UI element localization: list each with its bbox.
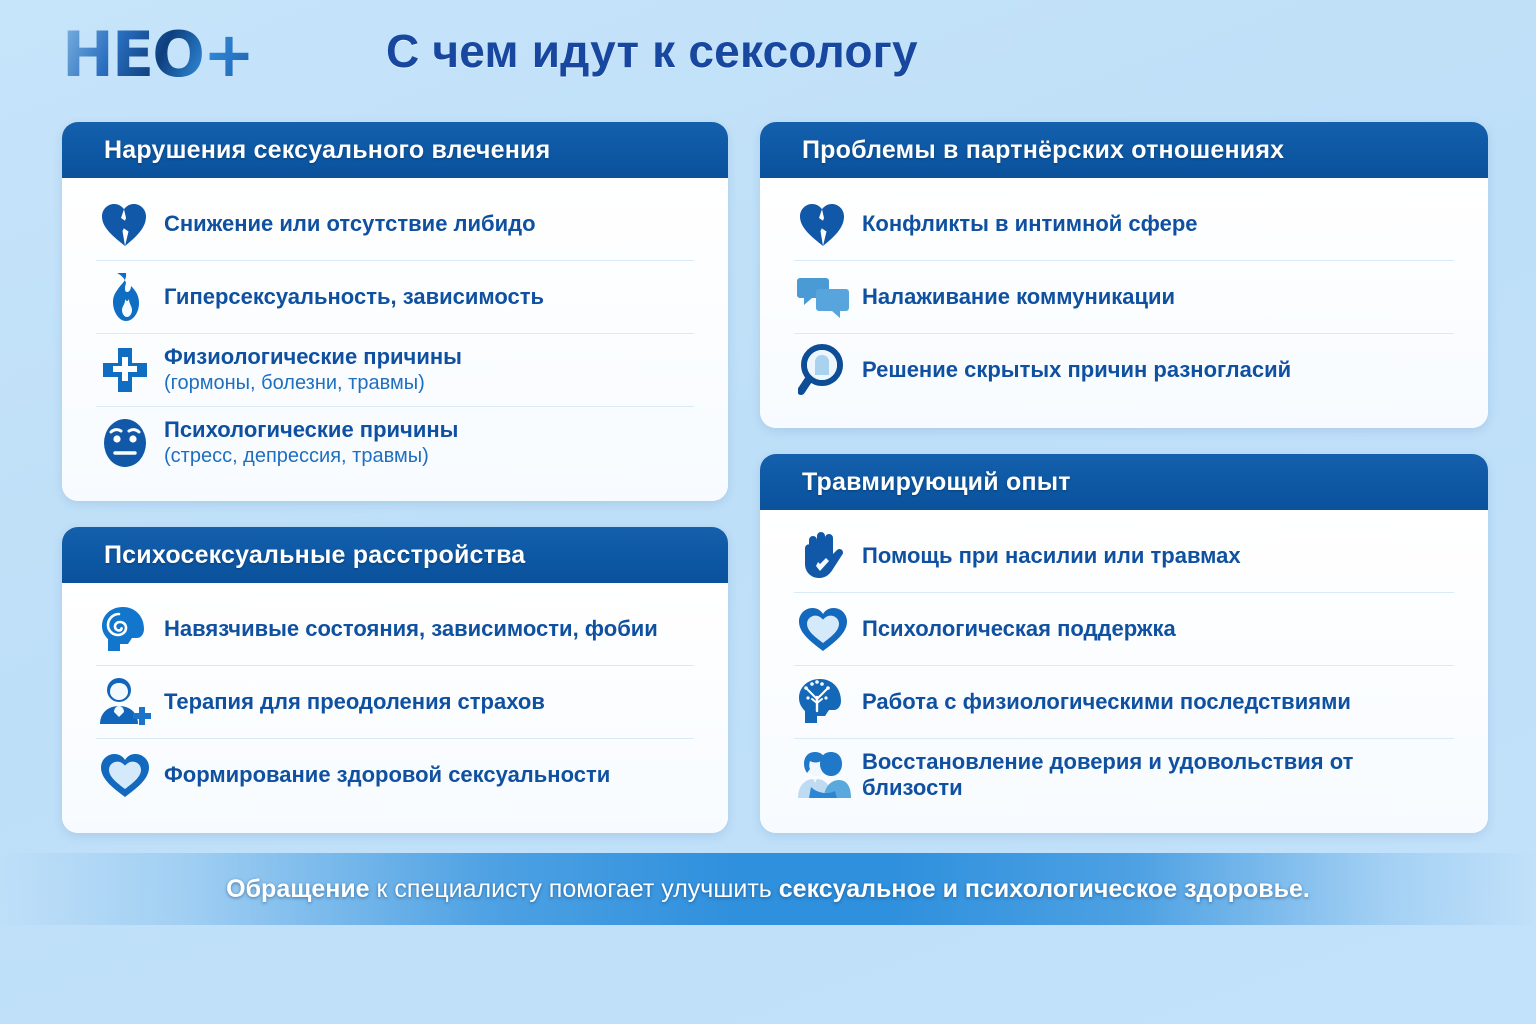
footer-strong: сексуальное и психологическое здоровье. [779,875,1310,903]
list-item-text: Налаживание коммуникации [862,284,1175,310]
card-header-partner-relationship-problems: Проблемы в партнёрских отношениях [760,122,1488,178]
list-item-label: Восстановление доверия и удовольствия от… [862,749,1353,800]
card-sexual-desire-disorders: Нарушения сексуального влеченияСнижение … [62,122,728,501]
magnifier-icon [794,342,852,398]
card-body-psychosexual-disorders: Навязчивые состояния, зависимости, фобии… [62,583,728,833]
broken-heart-icon [96,196,154,252]
list-item-label: Работа с физиологическими последствиями [862,689,1351,714]
list-item-text: Гиперсексуальность, зависимость [164,284,544,310]
card-psychosexual-disorders: Психосексуальные расстройстваНавязчивые … [62,527,728,833]
heart-inner-icon [96,747,154,803]
list-item[interactable]: Гиперсексуальность, зависимость [96,261,694,334]
list-item-text: Психологическая поддержка [862,616,1176,642]
list-item[interactable]: Помощь при насилии или травмах [794,520,1454,593]
list-item-text: Навязчивые состояния, зависимости, фобии [164,616,658,642]
list-item-label: Формирование здоровой сексуальности [164,762,610,787]
broken-heart-icon [794,196,852,252]
list-item[interactable]: Психологическая поддержка [794,593,1454,666]
list-item[interactable]: Налаживание коммуникации [794,261,1454,334]
list-item-sublabel: (гормоны, болезни, травмы) [164,372,462,396]
list-item-label: Решение скрытых причин разногласий [862,357,1291,382]
card-header-sexual-desire-disorders: Нарушения сексуального влечения [62,122,728,178]
flame-icon [96,269,154,325]
list-item-text: Терапия для преодоления страхов [164,689,545,715]
footer-banner: Обращение к специалисту помогает улучшит… [0,853,1536,925]
card-body-sexual-desire-disorders: Снижение или отсутствие либидоГиперсексу… [62,178,728,501]
list-item-label: Психологические причины [164,417,458,442]
left-column: Нарушения сексуального влеченияСнижение … [62,122,728,859]
top-bar: НЕО+ С чем идут к сексологу [0,0,1536,110]
footer-text: Обращение к специалисту помогает улучшит… [226,875,1310,904]
list-item[interactable]: Работа с физиологическими последствиями [794,666,1454,739]
list-item-label: Психологическая поддержка [862,616,1176,641]
head-spiral-icon [96,601,154,657]
list-item-label: Физиологические причины [164,344,462,369]
list-item-text: Снижение или отсутствие либидо [164,211,536,237]
card-body-traumatic-experience: Помощь при насилии или травмахПсихологич… [760,510,1488,833]
card-body-partner-relationship-problems: Конфликты в интимной сфереНалаживание ко… [760,178,1488,428]
heart-inner-icon [794,601,852,657]
list-item-text: Решение скрытых причин разногласий [862,357,1291,383]
list-item[interactable]: Восстановление доверия и удовольствия от… [794,739,1454,811]
list-item-label: Помощь при насилии или травмах [862,543,1241,568]
right-column: Проблемы в партнёрских отношенияхКонфлик… [760,122,1488,859]
list-item[interactable]: Решение скрытых причин разногласий [794,334,1454,406]
list-item-text: Помощь при насилии или травмах [862,543,1241,569]
couple-hug-icon [794,747,852,803]
list-item[interactable]: Конфликты в интимной сфере [794,188,1454,261]
card-header-traumatic-experience: Травмирующий опыт [760,454,1488,510]
list-item[interactable]: Терапия для преодоления страхов [96,666,694,739]
person-plus-icon [96,674,154,730]
footer-middle: к специалисту помогает улучшить [370,875,779,903]
sad-face-icon [96,415,154,471]
card-partner-relationship-problems: Проблемы в партнёрских отношенияхКонфлик… [760,122,1488,428]
list-item[interactable]: Физиологические причины(гормоны, болезни… [96,334,694,407]
list-item-text: Формирование здоровой сексуальности [164,762,610,788]
medical-cross-icon [96,342,154,398]
list-item-label: Конфликты в интимной сфере [862,211,1198,236]
list-item-text: Физиологические причины(гормоны, болезни… [164,344,462,396]
card-traumatic-experience: Травмирующий опытПомощь при насилии или … [760,454,1488,833]
list-item-text: Конфликты в интимной сфере [862,211,1198,237]
list-item-sublabel: (стресс, депрессия, травмы) [164,445,458,469]
list-item[interactable]: Формирование здоровой сексуальности [96,739,694,811]
head-tree-icon [794,674,852,730]
list-item-label: Налаживание коммуникации [862,284,1175,309]
list-item-text: Работа с физиологическими последствиями [862,689,1351,715]
card-title: Нарушения сексуального влечения [104,136,550,165]
list-item-label: Гиперсексуальность, зависимость [164,284,544,309]
list-item-text: Восстановление доверия и удовольствия от… [862,749,1454,801]
open-hand-icon [794,528,852,584]
list-item[interactable]: Психологические причины(стресс, депресси… [96,407,694,479]
card-title: Проблемы в партнёрских отношениях [802,136,1284,165]
page-title: С чем идут к сексологу [386,24,918,78]
list-item-label: Терапия для преодоления страхов [164,689,545,714]
list-item-label: Навязчивые состояния, зависимости, фобии [164,616,658,641]
card-title: Психосексуальные расстройства [104,541,525,570]
list-item[interactable]: Навязчивые состояния, зависимости, фобии [96,593,694,666]
list-item-label: Снижение или отсутствие либидо [164,211,536,236]
speech-bubbles-icon [794,269,852,325]
list-item[interactable]: Снижение или отсутствие либидо [96,188,694,261]
brand-logo: НЕО+ [62,24,253,86]
footer-lead: Обращение [226,875,369,903]
list-item-text: Психологические причины(стресс, депресси… [164,417,458,469]
card-title: Травмирующий опыт [802,468,1071,497]
card-header-psychosexual-disorders: Психосексуальные расстройства [62,527,728,583]
